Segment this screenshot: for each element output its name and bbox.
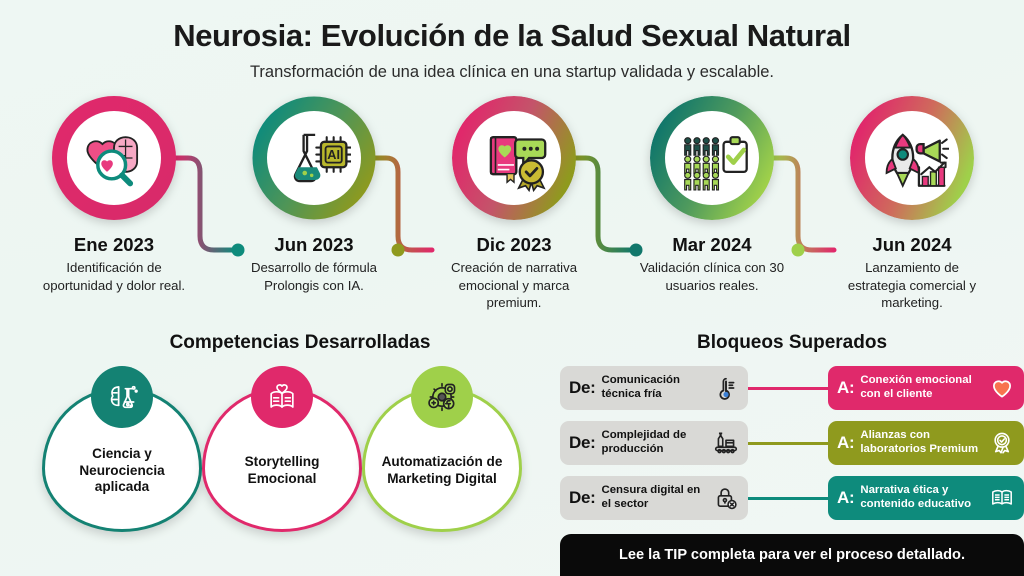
from-tag-3: De:: [569, 488, 596, 508]
timeline-ring-4: [650, 96, 774, 220]
from-tag-1: De:: [569, 378, 596, 398]
to-text-1: Conexión emocional con el cliente: [860, 374, 983, 401]
gear-social-icon: [422, 377, 462, 417]
from-tag-2: De:: [569, 433, 596, 453]
timeline-desc-2: Desarrollo de fórmula Prolongis con IA.: [214, 259, 414, 294]
timeline-icon-wrap-5: [865, 111, 959, 205]
competency-badge-2: [251, 366, 313, 428]
people-clipboard-check-icon: [675, 121, 749, 195]
timeline-date-4: Mar 2024: [612, 234, 812, 256]
infographic-canvas: Neurosia: Evolución de la Salud Sexual N…: [0, 0, 1024, 576]
timeline-desc-5: Lanzamiento de estrategia comercial y ma…: [812, 259, 1012, 312]
timeline-date-2: Jun 2023: [214, 234, 414, 256]
blockers-list: De: Comunicación técnica fría A: Conex: [560, 366, 1024, 526]
award-seal-icon: [989, 430, 1015, 456]
timeline: Ene 2023 Identificación de oportunidad y…: [0, 96, 1024, 326]
timeline-ring-3: [452, 96, 576, 220]
timeline-icon-wrap-3: [467, 111, 561, 205]
cta-text: Lee la TIP completa para ver el proceso …: [619, 547, 965, 563]
competency-label-2: Storytelling Emocional: [205, 454, 359, 487]
timeline-date-1: Ene 2023: [14, 234, 214, 256]
cta-bar[interactable]: Lee la TIP completa para ver el proceso …: [560, 534, 1024, 576]
timeline-icon-wrap-2: AI: [267, 111, 361, 205]
blocker-row-2: De: Complejidad de producción: [560, 421, 1024, 465]
lock-blocked-icon: [713, 485, 739, 511]
blocker-row-1: De: Comunicación técnica fría A: Conex: [560, 366, 1024, 410]
blocker-from-chip-3[interactable]: De: Censura digital en el sector: [560, 476, 748, 520]
timeline-node-3[interactable]: Dic 2023 Creación de narrativa emocional…: [414, 96, 614, 312]
competencies-list: Ciencia y Neurociencia aplicada Sto: [30, 366, 550, 542]
open-book-heart-icon: [262, 377, 302, 417]
from-text-2: Complejidad de producción: [602, 429, 708, 456]
blocker-from-chip-1[interactable]: De: Comunicación técnica fría: [560, 366, 748, 410]
timeline-desc-1: Identificación de oportunidad y dolor re…: [14, 259, 214, 294]
heart-icon: [989, 375, 1015, 401]
timeline-node-5[interactable]: Jun 2024 Lanzamiento de estrategia comer…: [812, 96, 1012, 312]
book-heart-speech-badge-icon: [477, 121, 551, 195]
competencies-heading: Competencias Desarrolladas: [60, 332, 540, 354]
competency-item-2[interactable]: Storytelling Emocional: [202, 366, 362, 532]
timeline-desc-4: Validación clínica con 30 usuarios reale…: [612, 259, 812, 294]
heart-brain-magnifier-icon: [77, 121, 151, 195]
page-subtitle: Transformación de una idea clínica en un…: [0, 63, 1024, 82]
brain-testtube-icon: [102, 377, 142, 417]
header: Neurosia: Evolución de la Salud Sexual N…: [0, 18, 1024, 82]
timeline-icon-wrap-4: [665, 111, 759, 205]
competency-item-3[interactable]: Automatización de Marketing Digital: [362, 366, 522, 532]
timeline-icon-wrap-1: [67, 111, 161, 205]
competency-badge-1: [91, 366, 153, 428]
blocker-connector-3: [748, 497, 828, 500]
blocker-to-chip-2[interactable]: A: Alianzas con laboratorios Premium: [828, 421, 1024, 465]
to-tag-1: A:: [837, 378, 854, 398]
blockers-heading: Bloqueos Superados: [560, 332, 1024, 354]
open-book-icon: [989, 485, 1015, 511]
blocker-connector-1: [748, 387, 828, 390]
timeline-node-1[interactable]: Ene 2023 Identificación de oportunidad y…: [14, 96, 214, 294]
timeline-node-2[interactable]: AI Jun 2023 Desarrollo de fórmula Prolon…: [214, 96, 414, 294]
competency-item-1[interactable]: Ciencia y Neurociencia aplicada: [42, 366, 202, 532]
timeline-date-3: Dic 2023: [414, 234, 614, 256]
timeline-node-4[interactable]: Mar 2024 Validación clínica con 30 usuar…: [612, 96, 812, 294]
from-text-1: Comunicación técnica fría: [602, 374, 708, 401]
blocker-from-chip-2[interactable]: De: Complejidad de producción: [560, 421, 748, 465]
timeline-date-5: Jun 2024: [812, 234, 1012, 256]
blocker-connector-2: [748, 442, 828, 445]
to-tag-2: A:: [837, 433, 854, 453]
to-tag-3: A:: [837, 488, 854, 508]
svg-text:AI: AI: [327, 147, 340, 162]
competency-label-1: Ciencia y Neurociencia aplicada: [45, 446, 199, 496]
timeline-ring-2: AI: [252, 96, 376, 220]
blocker-row-3: De: Censura digital en el sector: [560, 476, 1024, 520]
blocker-to-chip-1[interactable]: A: Conexión emocional con el cliente: [828, 366, 1024, 410]
to-text-3: Narrativa ética y contenido educativo: [860, 484, 983, 511]
page-title: Neurosia: Evolución de la Salud Sexual N…: [0, 18, 1024, 54]
timeline-ring-5: [850, 96, 974, 220]
thermometer-icon: [713, 375, 739, 401]
to-text-2: Alianzas con laboratorios Premium: [860, 429, 983, 456]
factory-conveyor-icon: [713, 430, 739, 456]
from-text-3: Censura digital en el sector: [602, 484, 708, 511]
competency-badge-3: [411, 366, 473, 428]
blocker-to-chip-3[interactable]: A: Narrativa ética y contenido educativo: [828, 476, 1024, 520]
rocket-megaphone-chart-icon: [875, 121, 949, 195]
flask-ai-chip-icon: AI: [277, 121, 351, 195]
timeline-desc-3: Creación de narrativa emocional y marca …: [414, 259, 614, 312]
timeline-ring-1: [52, 96, 176, 220]
competency-label-3: Automatización de Marketing Digital: [365, 454, 519, 487]
